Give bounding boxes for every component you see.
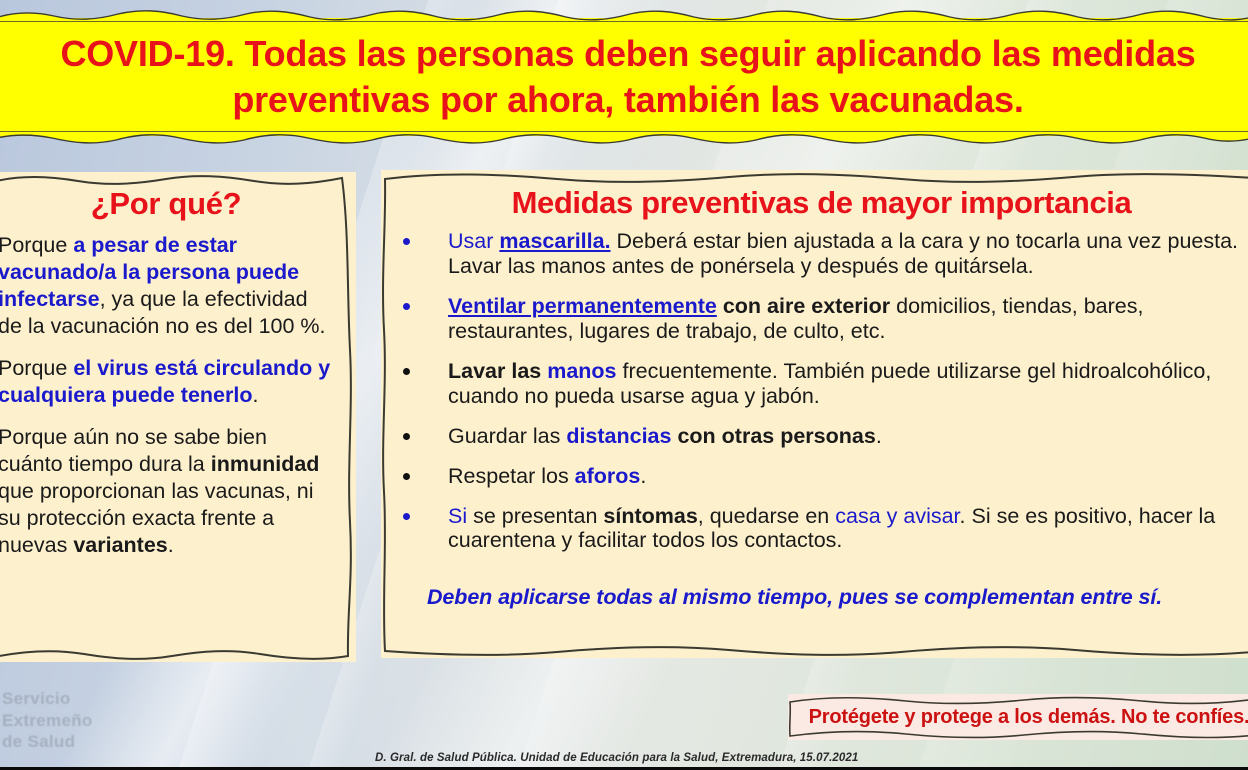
measure-3-run-2: con otras personas [671, 424, 875, 448]
measure-item-text: Lavar las manos frecuentemente. También … [448, 359, 1211, 408]
measure-item: Lavar las manos frecuentemente. También … [395, 359, 1248, 409]
why-paragraph: Porque el virus está circulando y cualqu… [0, 355, 334, 409]
measure-4-run-1: aforos [575, 464, 641, 488]
why-paragraph: Porque a pesar de estar vacunado/a la pe… [0, 232, 334, 340]
why-paragraph-2-run-3: variantes [73, 533, 167, 557]
bullet-dot-icon [403, 513, 410, 520]
slide-canvas: Servicio Extremeño de Salud COVID-19. To… [0, 0, 1248, 770]
measures-panel-title: Medidas preventivas de mayor importancia [391, 185, 1248, 221]
measure-5-run-2: síntomas [603, 504, 697, 528]
protect-callout: Protégete y protege a los demás. No te c… [788, 694, 1248, 740]
why-paragraph-0-run-0: Porque [0, 233, 73, 257]
watermark-line-1: Servicio [2, 688, 172, 709]
measure-item: Guardar las distancias con otras persona… [395, 424, 1248, 449]
measure-item-text: Ventilar permanentemente con aire exteri… [448, 294, 1143, 343]
watermark-line-3: de Salud [2, 731, 172, 752]
bullet-dot-icon [403, 238, 410, 245]
measures-panel-content: Medidas preventivas de mayor importancia… [381, 170, 1248, 658]
measure-5-run-4: casa y avisar [835, 504, 959, 528]
why-paragraph-1-run-2: . [252, 383, 258, 407]
measure-5-run-0: Si [448, 504, 467, 528]
measures-closing-note: Deben aplicarse todas al mismo tiempo, p… [427, 585, 1248, 610]
measure-item: Si se presentan síntomas, quedarse en ca… [395, 504, 1248, 554]
why-paragraph-list: Porque a pesar de estar vacunado/a la pe… [0, 232, 334, 559]
title-line-1: COVID-19. Todas las personas deben segui… [0, 31, 1248, 77]
why-panel-content: ¿Por qué? Porque a pesar de estar vacuna… [0, 172, 356, 662]
title-line-2: preventivas por ahora, también las vacun… [0, 77, 1248, 123]
measure-4-run-2: . [640, 464, 646, 488]
measures-bullet-list: Usar mascarilla. Deberá estar bien ajust… [391, 229, 1248, 553]
measure-2-run-0: Lavar las [448, 359, 547, 383]
footer-credit-text: D. Gral. de Salud Pública. Unidad de Edu… [375, 752, 858, 764]
measure-3-run-3: . [876, 424, 882, 448]
bullet-dot-icon [403, 433, 410, 440]
bullet-dot-icon [403, 368, 410, 375]
measure-1-run-1: con aire exterior [717, 294, 890, 318]
measure-0-run-0: Usar [448, 229, 499, 253]
measure-1-run-0: Ventilar permanentemente [448, 294, 717, 318]
protect-callout-text: Protégete y protege a los demás. No te c… [788, 706, 1248, 729]
measure-item: Usar mascarilla. Deberá estar bien ajust… [395, 229, 1248, 279]
why-paragraph-2-run-4: . [168, 533, 174, 557]
measures-panel: Medidas preventivas de mayor importancia… [381, 170, 1248, 658]
measure-item-text: Si se presentan síntomas, quedarse en ca… [448, 504, 1215, 553]
title-banner: COVID-19. Todas las personas deben segui… [0, 18, 1248, 136]
why-paragraph-2-run-1: inmunidad [211, 452, 320, 476]
why-paragraph: Porque aún no se sabe bien cuánto tiempo… [0, 424, 334, 559]
banner-bottom-wave-icon [0, 131, 1248, 145]
measure-5-run-3: , quedarse en [698, 504, 835, 528]
measure-item-text: Usar mascarilla. Deberá estar bien ajust… [448, 229, 1238, 278]
why-panel-title: ¿Por qué? [0, 186, 334, 222]
banner-top-wave-icon [0, 8, 1248, 22]
measure-0-run-1: mascarilla. [499, 229, 610, 253]
measure-item: Ventilar permanentemente con aire exteri… [395, 294, 1248, 344]
bullet-dot-icon [403, 473, 410, 480]
measure-5-run-1: se presentan [467, 504, 603, 528]
watermark-logo: Servicio Extremeño de Salud [2, 688, 172, 752]
why-panel: ¿Por qué? Porque a pesar de estar vacuna… [0, 172, 356, 662]
measure-2-run-1: manos [547, 359, 616, 383]
measure-item: Respetar los aforos. [395, 464, 1248, 489]
measure-item-text: Respetar los aforos. [448, 464, 646, 488]
measure-item-text: Guardar las distancias con otras persona… [448, 424, 882, 448]
title-text: COVID-19. Todas las personas deben segui… [0, 31, 1248, 123]
measure-3-run-1: distancias [566, 424, 671, 448]
bullet-dot-icon [403, 303, 410, 310]
watermark-line-2: Extremeño [2, 710, 172, 731]
measure-3-run-0: Guardar las [448, 424, 566, 448]
measure-4-run-0: Respetar los [448, 464, 575, 488]
why-paragraph-1-run-0: Porque [0, 356, 73, 380]
